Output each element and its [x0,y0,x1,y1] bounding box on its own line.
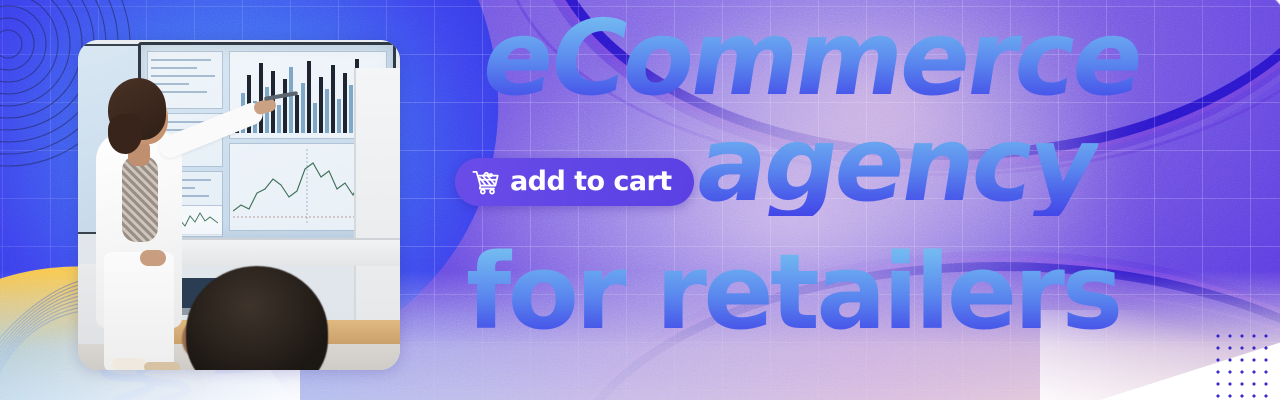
add-to-cart-label: add to cart [510,168,672,195]
add-to-cart-button[interactable]: add to cart [455,158,694,206]
shopping-cart-icon [471,167,501,197]
headline-line-1: eCommerce [476,6,1149,110]
headline-line-3: for retailers [466,240,1120,344]
headline-line-2: agency [690,112,1103,216]
hero-banner: eCommerce agency for retailers add to ca… [0,0,1280,400]
